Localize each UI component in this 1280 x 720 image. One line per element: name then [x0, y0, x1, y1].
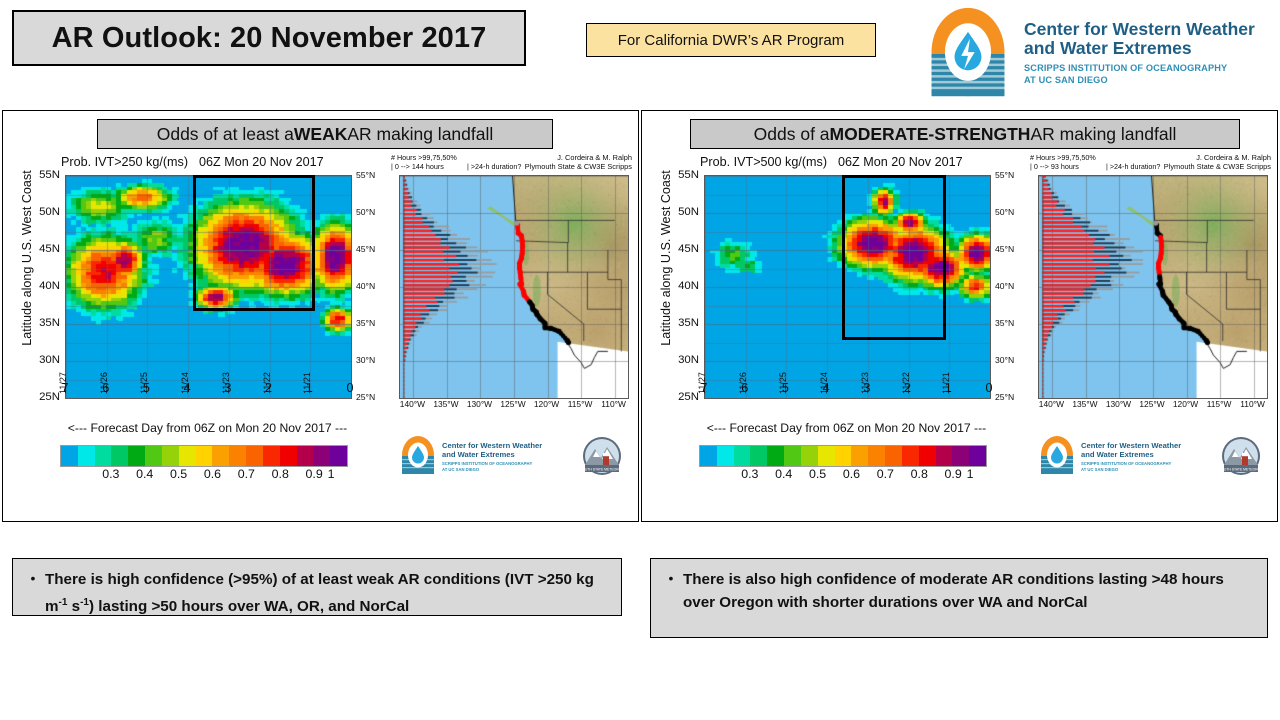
x-tick-label: 0 — [346, 381, 353, 395]
y-tick-label: 50N — [39, 206, 60, 218]
meta-line2-moderate: | 0 --> 93 hours — [1030, 162, 1096, 171]
colorbar-bin — [78, 446, 95, 466]
colorbar-tick-label: 0.3 — [102, 467, 119, 481]
y-tick-label: 50N — [678, 206, 699, 218]
y-tick-label-right: 40°N — [995, 281, 1014, 291]
credit-line2-moderate: Plymouth State & CW3E Scripps — [1164, 162, 1271, 171]
y-tick-label-right: 45°N — [995, 244, 1014, 254]
bullet-text-moderate: There is also high confidence of moderat… — [683, 568, 1257, 628]
colorbar-tick-label: 0.8 — [911, 467, 928, 481]
hovmoller-moderate: 55N55°N50N50°N45N45°N40N40°N35N35°N30N30… — [704, 175, 989, 397]
colorbar-bin — [952, 446, 969, 466]
y-tick-label: 25N — [39, 391, 60, 403]
footer-logo-graphics-moderate: Center for Western Weather and Water Ext… — [1036, 435, 1276, 479]
svg-text:PLYMOUTH STATE METEOROLOGY: PLYMOUTH STATE METEOROLOGY — [573, 467, 631, 471]
svg-text:Center for Western Weather: Center for Western Weather — [1081, 441, 1181, 450]
credit-weak: J. Cordeira & M. Ralph Plymouth State & … — [525, 153, 632, 171]
meta-line2-weak: | 0 --> 144 hours — [391, 162, 457, 171]
colorbar-bin — [868, 446, 885, 466]
cw3e-logo-mark — [920, 6, 1016, 102]
colorbar-bin — [700, 446, 717, 466]
footer-logo-graphics-weak: Center for Western Weather and Water Ext… — [397, 435, 637, 479]
svg-text:and Water Extremes: and Water Extremes — [1081, 450, 1154, 459]
panel-weak-head-pre: Odds of at least a — [157, 124, 294, 145]
y-tick-label-right: 50°N — [356, 207, 375, 217]
credit-moderate: J. Cordeira & M. Ralph Plymouth State & … — [1164, 153, 1271, 171]
colorbar-bin — [246, 446, 263, 466]
lon-tick-label: 115°W — [1207, 399, 1232, 409]
panel-moderate-head-post: AR making landfall — [1030, 124, 1176, 145]
colorbar-bin — [196, 446, 213, 466]
colorbar-bin — [212, 446, 229, 466]
y-tick-label-right: 25°N — [356, 392, 375, 402]
colorbar-tick-label: 0.7 — [877, 467, 894, 481]
svg-text:Center for Western Weather: Center for Western Weather — [442, 441, 542, 450]
lon-tick-label: 135°W — [433, 399, 458, 409]
colorbar-tick-label: 1 — [328, 467, 335, 481]
bullet-box-weak: • There is high confidence (>95%) of at … — [12, 558, 622, 616]
x-tick-label: 0 — [985, 381, 992, 395]
x-tick-label: 2 — [904, 381, 911, 395]
meta-line1-weak: # Hours >99,75,50% — [391, 153, 457, 162]
x-tick-label: 5 — [782, 381, 789, 395]
page-title: AR Outlook: 20 November 2017 — [12, 10, 526, 66]
footer-logos-weak: Center for Western Weather and Water Ext… — [397, 435, 637, 479]
dwr-program-note: For California DWR’s AR Program — [586, 23, 876, 57]
panel-moderate-ar: Odds of a MODERATE-STRENGTH AR making la… — [641, 110, 1278, 522]
figure-moderate: Prob. IVT>500 kg/(ms) 06Z Mon 20 Nov 201… — [642, 155, 1277, 521]
colorbar-tick-label: 0.7 — [238, 467, 255, 481]
y-tick-label-right: 30°N — [995, 355, 1014, 365]
colorbar-tick-label: 0.3 — [741, 467, 758, 481]
meta-duration-moderate: | >24-h duration? — [1106, 162, 1160, 171]
svg-text:AT UC SAN DIEGO: AT UC SAN DIEGO — [1081, 467, 1119, 472]
y-tick-label: 55N — [39, 169, 60, 181]
y-tick-label: 30N — [678, 354, 699, 366]
map-weak: 140°W135°W130°W125°W120°W115°W110°W — [399, 175, 627, 397]
svg-text:SCRIPPS INSTITUTION OF OCEANOG: SCRIPPS INSTITUTION OF OCEANOGRAPHY — [442, 461, 532, 466]
colorbar-bin — [767, 446, 784, 466]
colorbar-bin — [734, 446, 751, 466]
colorbar-bin — [280, 446, 297, 466]
svg-text:SCRIPPS INSTITUTION OF OCEANOG: SCRIPPS INSTITUTION OF OCEANOGRAPHY — [1081, 461, 1171, 466]
colorbar-bin — [835, 446, 852, 466]
y-tick-label: 45N — [678, 243, 699, 255]
lon-tick-label: 140°W — [400, 399, 425, 409]
bullet-marker-moderate: • — [659, 568, 683, 628]
colorbar-moderate — [699, 445, 987, 467]
x-tick-label: 2 — [265, 381, 272, 395]
meta-line1-moderate: # Hours >99,75,50% — [1030, 153, 1096, 162]
x-tick-label: 4 — [823, 381, 830, 395]
hovmoller-canvas-weak — [65, 175, 352, 399]
lon-tick-label: 110°W — [601, 399, 626, 409]
x-tick-label: 1 — [306, 381, 313, 395]
logo-name-line1: Center for Western Weather — [1024, 20, 1274, 39]
map-canvas-moderate — [1038, 175, 1268, 399]
colorbar-bin — [902, 446, 919, 466]
lon-tick-label: 110°W — [1240, 399, 1265, 409]
cw3e-small-logo-icon — [1041, 436, 1073, 474]
panel-moderate-head-bold: MODERATE-STRENGTH — [830, 124, 1031, 145]
y-tick-label-right: 55°N — [356, 170, 375, 180]
colorbar-bin — [111, 446, 128, 466]
bullet-box-moderate: • There is also high confidence of moder… — [650, 558, 1268, 638]
x-tick-label: 3 — [863, 381, 870, 395]
valid-time-moderate: 06Z Mon 20 Nov 2017 — [838, 155, 963, 169]
lon-tick-label: 135°W — [1072, 399, 1097, 409]
colorbar-bin — [936, 446, 953, 466]
colorbar-tick-label: 0.9 — [305, 467, 322, 481]
x-tick-label: 4 — [184, 381, 191, 395]
y-tick-label: 40N — [678, 280, 699, 292]
colorbar-bin — [95, 446, 112, 466]
colorbar-tick-label: 0.6 — [204, 467, 221, 481]
y-tick-label: 45N — [39, 243, 60, 255]
y-tick-label: 30N — [39, 354, 60, 366]
y-tick-label-right: 55°N — [995, 170, 1014, 180]
colorbar-tick-label: 0.4 — [775, 467, 792, 481]
panel-weak-head-post: AR making landfall — [347, 124, 493, 145]
credit-line1-moderate: J. Cordeira & M. Ralph — [1164, 153, 1271, 162]
panel-moderate-head-pre: Odds of a — [754, 124, 830, 145]
x-axis-caption-weak: <--- Forecast Day from 06Z on Mon 20 Nov… — [65, 421, 350, 435]
y-tick-label: 40N — [39, 280, 60, 292]
y-tick-label-right: 50°N — [995, 207, 1014, 217]
colorbar-bin — [128, 446, 145, 466]
bullet-text-weak: There is high confidence (>95%) of at le… — [45, 568, 611, 606]
bullet-marker-weak: • — [21, 568, 45, 606]
svg-text:PLYMOUTH STATE METEOROLOGY: PLYMOUTH STATE METEOROLOGY — [1212, 467, 1270, 471]
y-tick-label-right: 35°N — [356, 318, 375, 328]
lon-tick-label: 115°W — [568, 399, 593, 409]
slide-header: AR Outlook: 20 November 2017 For Califor… — [0, 0, 1280, 108]
x-tick-label: 1 — [945, 381, 952, 395]
x-tick-label: 7 — [700, 381, 707, 395]
lon-tick-label: 120°W — [534, 399, 559, 409]
lon-tick-label: 130°W — [1106, 399, 1131, 409]
colorbar-tick-label: 0.5 — [170, 467, 187, 481]
lon-tick-label: 125°W — [500, 399, 525, 409]
logo-name-line2: and Water Extremes — [1024, 39, 1274, 58]
credit-line2-weak: Plymouth State & CW3E Scripps — [525, 162, 632, 171]
y-tick-label: 35N — [39, 317, 60, 329]
colorbar-bin — [145, 446, 162, 466]
colorbar-bin — [229, 446, 246, 466]
hovmoller-weak: 55N55°N50N50°N45N45°N40N40°N35N35°N30N30… — [65, 175, 350, 397]
colorbar-bin — [851, 446, 868, 466]
colorbar-bin — [330, 446, 347, 466]
cw3e-logo: Center for Western Weather and Water Ext… — [920, 6, 1270, 104]
colorbar-bin — [750, 446, 767, 466]
colorbar-tick-label: 1 — [967, 467, 974, 481]
colorbar-bin — [784, 446, 801, 466]
colorbar-bin — [263, 446, 280, 466]
footer-logos-moderate: Center for Western Weather and Water Ext… — [1036, 435, 1276, 479]
cw3e-small-logo-icon — [402, 436, 434, 474]
y-axis-label-weak: Latitude along U.S. West Coast — [20, 158, 34, 358]
panel-weak-header: Odds of at least a WEAK AR making landfa… — [97, 119, 553, 149]
map-canvas-weak — [399, 175, 629, 399]
plymouth-state-logo-icon: PLYMOUTH STATE METEOROLOGY — [1212, 437, 1270, 475]
panel-weak-ar: Odds of at least a WEAK AR making landfa… — [2, 110, 639, 522]
colorbar-bin — [313, 446, 330, 466]
lon-tick-label: 125°W — [1139, 399, 1164, 409]
x-tick-label: 6 — [102, 381, 109, 395]
meta-duration-weak: | >24-h duration? — [467, 162, 521, 171]
lon-tick-label: 130°W — [467, 399, 492, 409]
y-tick-label-right: 35°N — [995, 318, 1014, 328]
x-tick-label: 6 — [741, 381, 748, 395]
lon-tick-label: 140°W — [1039, 399, 1064, 409]
x-axis-caption-moderate: <--- Forecast Day from 06Z on Mon 20 Nov… — [704, 421, 989, 435]
colorbar-bin — [717, 446, 734, 466]
colorbar-bin — [969, 446, 986, 466]
y-tick-label-right: 30°N — [356, 355, 375, 365]
plymouth-state-logo-icon: PLYMOUTH STATE METEOROLOGY — [573, 437, 631, 475]
valid-time-weak: 06Z Mon 20 Nov 2017 — [199, 155, 324, 169]
hov-title-weak: Prob. IVT>250 kg/(ms) — [61, 155, 188, 169]
colorbar-bin — [919, 446, 936, 466]
logo-sub-line1: SCRIPPS INSTITUTION OF OCEANOGRAPHY — [1024, 63, 1274, 75]
y-tick-label-right: 40°N — [356, 281, 375, 291]
y-axis-label-moderate: Latitude along U.S. West Coast — [659, 158, 673, 358]
colorbar-weak — [60, 445, 348, 467]
colorbar-bin — [297, 446, 314, 466]
y-tick-label: 55N — [678, 169, 699, 181]
hovmoller-canvas-moderate — [704, 175, 991, 399]
figure-weak: Prob. IVT>250 kg/(ms) 06Z Mon 20 Nov 201… — [3, 155, 638, 521]
colorbar-tick-label: 0.4 — [136, 467, 153, 481]
x-tick-label: 5 — [143, 381, 150, 395]
svg-text:and Water Extremes: and Water Extremes — [442, 450, 515, 459]
colorbar-tick-label: 0.9 — [944, 467, 961, 481]
map-moderate: 140°W135°W130°W125°W120°W115°W110°W — [1038, 175, 1266, 397]
colorbar-tick-label: 0.8 — [272, 467, 289, 481]
map-meta-weak: # Hours >99,75,50% | 0 --> 144 hours | >… — [391, 153, 457, 171]
y-tick-label: 35N — [678, 317, 699, 329]
panel-moderate-header: Odds of a MODERATE-STRENGTH AR making la… — [690, 119, 1240, 149]
panel-weak-head-bold: WEAK — [294, 124, 347, 145]
cw3e-logo-text: Center for Western Weather and Water Ext… — [1024, 20, 1274, 86]
x-tick-label: 3 — [224, 381, 231, 395]
x-tick-label: 7 — [61, 381, 68, 395]
credit-line1-weak: J. Cordeira & M. Ralph — [525, 153, 632, 162]
logo-sub-line2: AT UC SAN DIEGO — [1024, 75, 1274, 87]
colorbar-bin — [801, 446, 818, 466]
y-tick-label: 25N — [678, 391, 699, 403]
colorbar-tick-label: 0.6 — [843, 467, 860, 481]
y-tick-label-right: 25°N — [995, 392, 1014, 402]
map-meta-moderate: # Hours >99,75,50% | 0 --> 93 hours | >2… — [1030, 153, 1096, 171]
colorbar-bin — [179, 446, 196, 466]
hov-title-moderate: Prob. IVT>500 kg/(ms) — [700, 155, 827, 169]
colorbar-bin — [885, 446, 902, 466]
colorbar-bin — [162, 446, 179, 466]
colorbar-bin — [818, 446, 835, 466]
svg-text:AT UC SAN DIEGO: AT UC SAN DIEGO — [442, 467, 480, 472]
lon-tick-label: 120°W — [1173, 399, 1198, 409]
colorbar-tick-label: 0.5 — [809, 467, 826, 481]
y-tick-label-right: 45°N — [356, 244, 375, 254]
colorbar-bin — [61, 446, 78, 466]
